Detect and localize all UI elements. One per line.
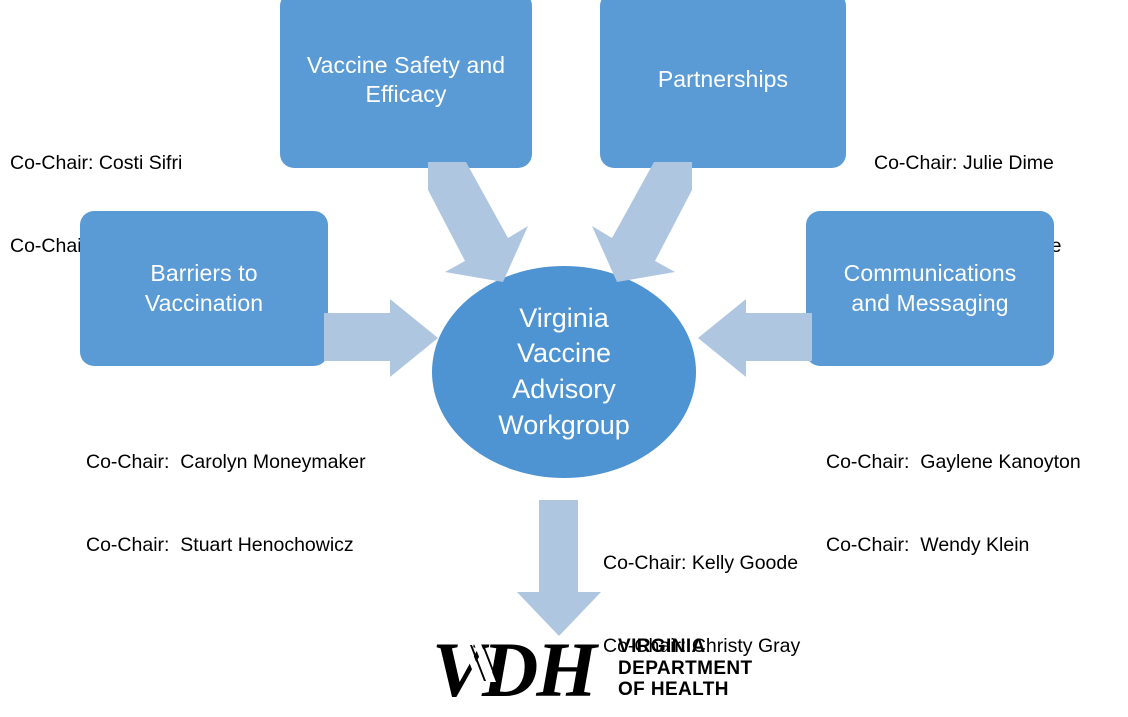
vdh-logo-word-line: VIRGINIA bbox=[618, 636, 753, 658]
node-label-line: Vaccine Safety and bbox=[307, 51, 505, 80]
arrow-barriers-to-hub bbox=[324, 299, 438, 377]
arrow-safety-to-hub bbox=[400, 160, 530, 285]
hub-label-line: Vaccine bbox=[498, 336, 630, 372]
arrow-partnerships-to-hub bbox=[592, 160, 722, 285]
co-chair-line: Co-Chair: Stuart Henochowicz bbox=[86, 532, 446, 560]
node-barriers-to-vaccination[interactable]: Barriers to Vaccination bbox=[80, 211, 328, 366]
node-label-line: and Messaging bbox=[844, 289, 1017, 318]
node-communications-and-messaging[interactable]: Communications and Messaging bbox=[806, 211, 1054, 366]
hub-label-line: Advisory bbox=[498, 372, 630, 408]
vdh-logo-word-line: DEPARTMENT bbox=[618, 658, 753, 680]
co-chair-line: Co-Chair: Costi Sifri bbox=[10, 150, 300, 178]
vdh-logo-wordmark: VDH bbox=[432, 632, 595, 708]
arrow-communications-to-hub bbox=[698, 299, 812, 377]
node-label-line: Efficacy bbox=[307, 80, 505, 109]
vdh-logo-word-line: OF HEALTH bbox=[618, 679, 753, 701]
node-vaccine-safety-and-efficacy[interactable]: Vaccine Safety and Efficacy bbox=[280, 0, 532, 168]
co-chair-line: Co-Chair: Carolyn Moneymaker bbox=[86, 449, 446, 477]
co-chair-line: Co-Chair: Julie Dime bbox=[874, 150, 1124, 178]
node-partnerships[interactable]: Partnerships bbox=[600, 0, 846, 168]
hub-virginia-vaccine-advisory-workgroup[interactable]: Virginia Vaccine Advisory Workgroup bbox=[432, 266, 696, 478]
co-chair-line: Co-Chair: Gaylene Kanoyton bbox=[826, 449, 1128, 477]
node-label-line: Communications bbox=[844, 259, 1017, 288]
vdh-logo-words: VIRGINIA DEPARTMENT OF HEALTH bbox=[618, 636, 753, 701]
diagram-canvas: Vaccine Safety and Efficacy Co-Chair: Co… bbox=[0, 0, 1128, 708]
arrow-hub-to-vdh bbox=[517, 500, 601, 636]
hub-label-line: Virginia bbox=[498, 301, 630, 337]
node-label-line: Partnerships bbox=[658, 65, 788, 94]
vdh-logo-slash-icon bbox=[458, 642, 502, 686]
vdh-logo: VDH VIRGINIA DEPARTMENT OF HEALTH bbox=[432, 632, 752, 708]
co-chairs-barriers-to-vaccination: Co-Chair: Carolyn Moneymaker Co-Chair: S… bbox=[86, 393, 446, 616]
node-label-line: Vaccination bbox=[145, 289, 263, 318]
hub-label-line: Workgroup bbox=[498, 408, 630, 444]
node-label-line: Barriers to bbox=[145, 259, 263, 288]
co-chair-line: Co-Chair: Kelly Goode bbox=[603, 550, 883, 578]
